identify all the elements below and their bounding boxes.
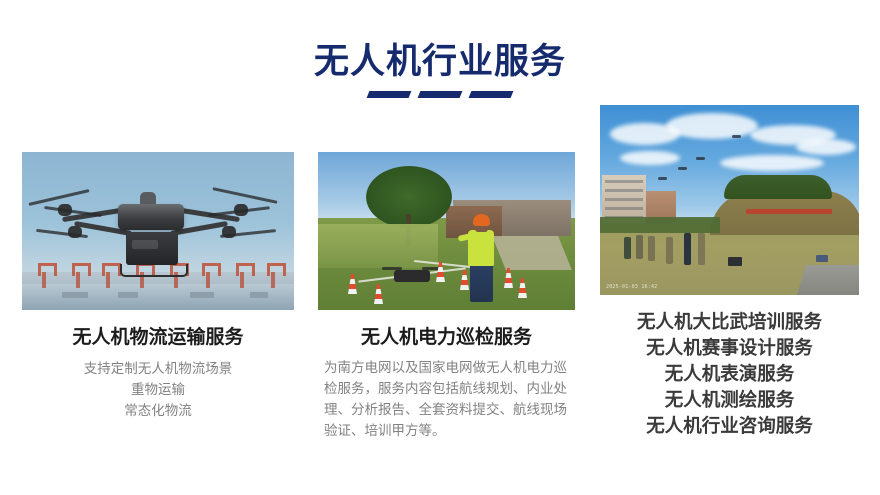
cloud	[666, 113, 758, 139]
trainee-person	[666, 237, 673, 264]
body-line: 支持定制无人机物流场景	[22, 358, 294, 379]
vegetation-row	[600, 217, 720, 233]
service-line: 无人机表演服务	[600, 361, 859, 387]
drone-fuselage	[118, 204, 184, 230]
divider-dash-1	[367, 91, 412, 98]
slide-title-block: 无人机行业服务	[0, 42, 880, 98]
trainee-person	[624, 237, 631, 259]
port-crane	[36, 263, 53, 288]
port-crane	[70, 263, 87, 288]
service-column-power-inspection: 无人机电力巡检服务 为南方电网以及国家电网做无人机电力巡检服务，服务内容包括航线…	[318, 152, 575, 441]
cloud	[796, 139, 856, 155]
divider-dash-3	[469, 91, 514, 98]
service-line: 无人机测绘服务	[600, 387, 859, 413]
flying-drone	[696, 157, 705, 160]
flying-drone	[658, 177, 667, 180]
red-banner	[746, 209, 832, 214]
flying-drone	[678, 167, 687, 170]
photo-timestamp-watermark: 2025-01-03 16:42	[606, 284, 657, 290]
drone-cargo-box	[126, 232, 178, 265]
apartment-building	[602, 175, 646, 223]
dirt-path	[492, 236, 572, 270]
port-vessel	[118, 292, 138, 298]
flying-drone	[732, 135, 741, 138]
operator-orange-helmet	[473, 214, 490, 226]
divider-dash-2	[418, 91, 463, 98]
port-crane	[100, 263, 117, 288]
cloud	[720, 155, 824, 171]
trainee-person	[684, 233, 691, 265]
column-body-training: 无人机大比武培训服务 无人机赛事设计服务 无人机表演服务 无人机测绘服务 无人机…	[600, 309, 859, 439]
title-divider	[0, 91, 880, 98]
service-column-training: 2025-01-03 16:42 无人机大比武培训服务 无人机赛事设计服务 无人…	[600, 105, 859, 439]
port-vessel	[62, 292, 88, 298]
drone-operator-power-inspection-photo	[318, 152, 575, 310]
trainee-person	[636, 235, 643, 259]
service-line: 无人机行业咨询服务	[600, 413, 859, 439]
paved-area	[797, 265, 859, 295]
column-heading-power-inspection: 无人机电力巡检服务	[318, 326, 575, 350]
port-crane	[234, 263, 251, 288]
service-column-logistics: 无人机物流运输服务 支持定制无人机物流场景 重物运输 常态化物流	[22, 152, 294, 421]
trainee-person	[648, 236, 655, 261]
column-body-power-inspection: 为南方电网以及国家电网做无人机电力巡检服务，服务内容包括航线规划、内业处理、分析…	[318, 357, 575, 441]
hilltop-trees	[724, 175, 832, 199]
cargo-drone-over-port-photo	[22, 152, 294, 310]
drone-landing-skid	[120, 264, 188, 277]
operator-legs	[470, 264, 493, 302]
column-heading-logistics: 无人机物流运输服务	[22, 326, 294, 350]
trainee-person	[698, 233, 705, 265]
inspection-drone	[394, 270, 430, 282]
cloud	[620, 151, 680, 165]
port-vessel	[190, 292, 214, 298]
body-line: 重物运输	[22, 379, 294, 400]
port-crane	[265, 263, 282, 288]
service-line: 无人机赛事设计服务	[600, 335, 859, 361]
port-crane	[200, 263, 217, 288]
column-body-logistics: 支持定制无人机物流场景 重物运输 常态化物流	[22, 358, 294, 421]
drone-training-field-photo: 2025-01-03 16:42	[600, 105, 859, 295]
slide-canvas: 无人机行业服务	[0, 0, 880, 495]
page-title: 无人机行业服务	[0, 42, 880, 82]
service-line: 无人机大比武培训服务	[600, 309, 859, 335]
port-vessel	[250, 292, 268, 298]
equipment-case	[728, 257, 742, 266]
operator-hi-vis-vest	[468, 230, 494, 266]
body-line: 常态化物流	[22, 400, 294, 421]
equipment-case	[816, 255, 828, 262]
